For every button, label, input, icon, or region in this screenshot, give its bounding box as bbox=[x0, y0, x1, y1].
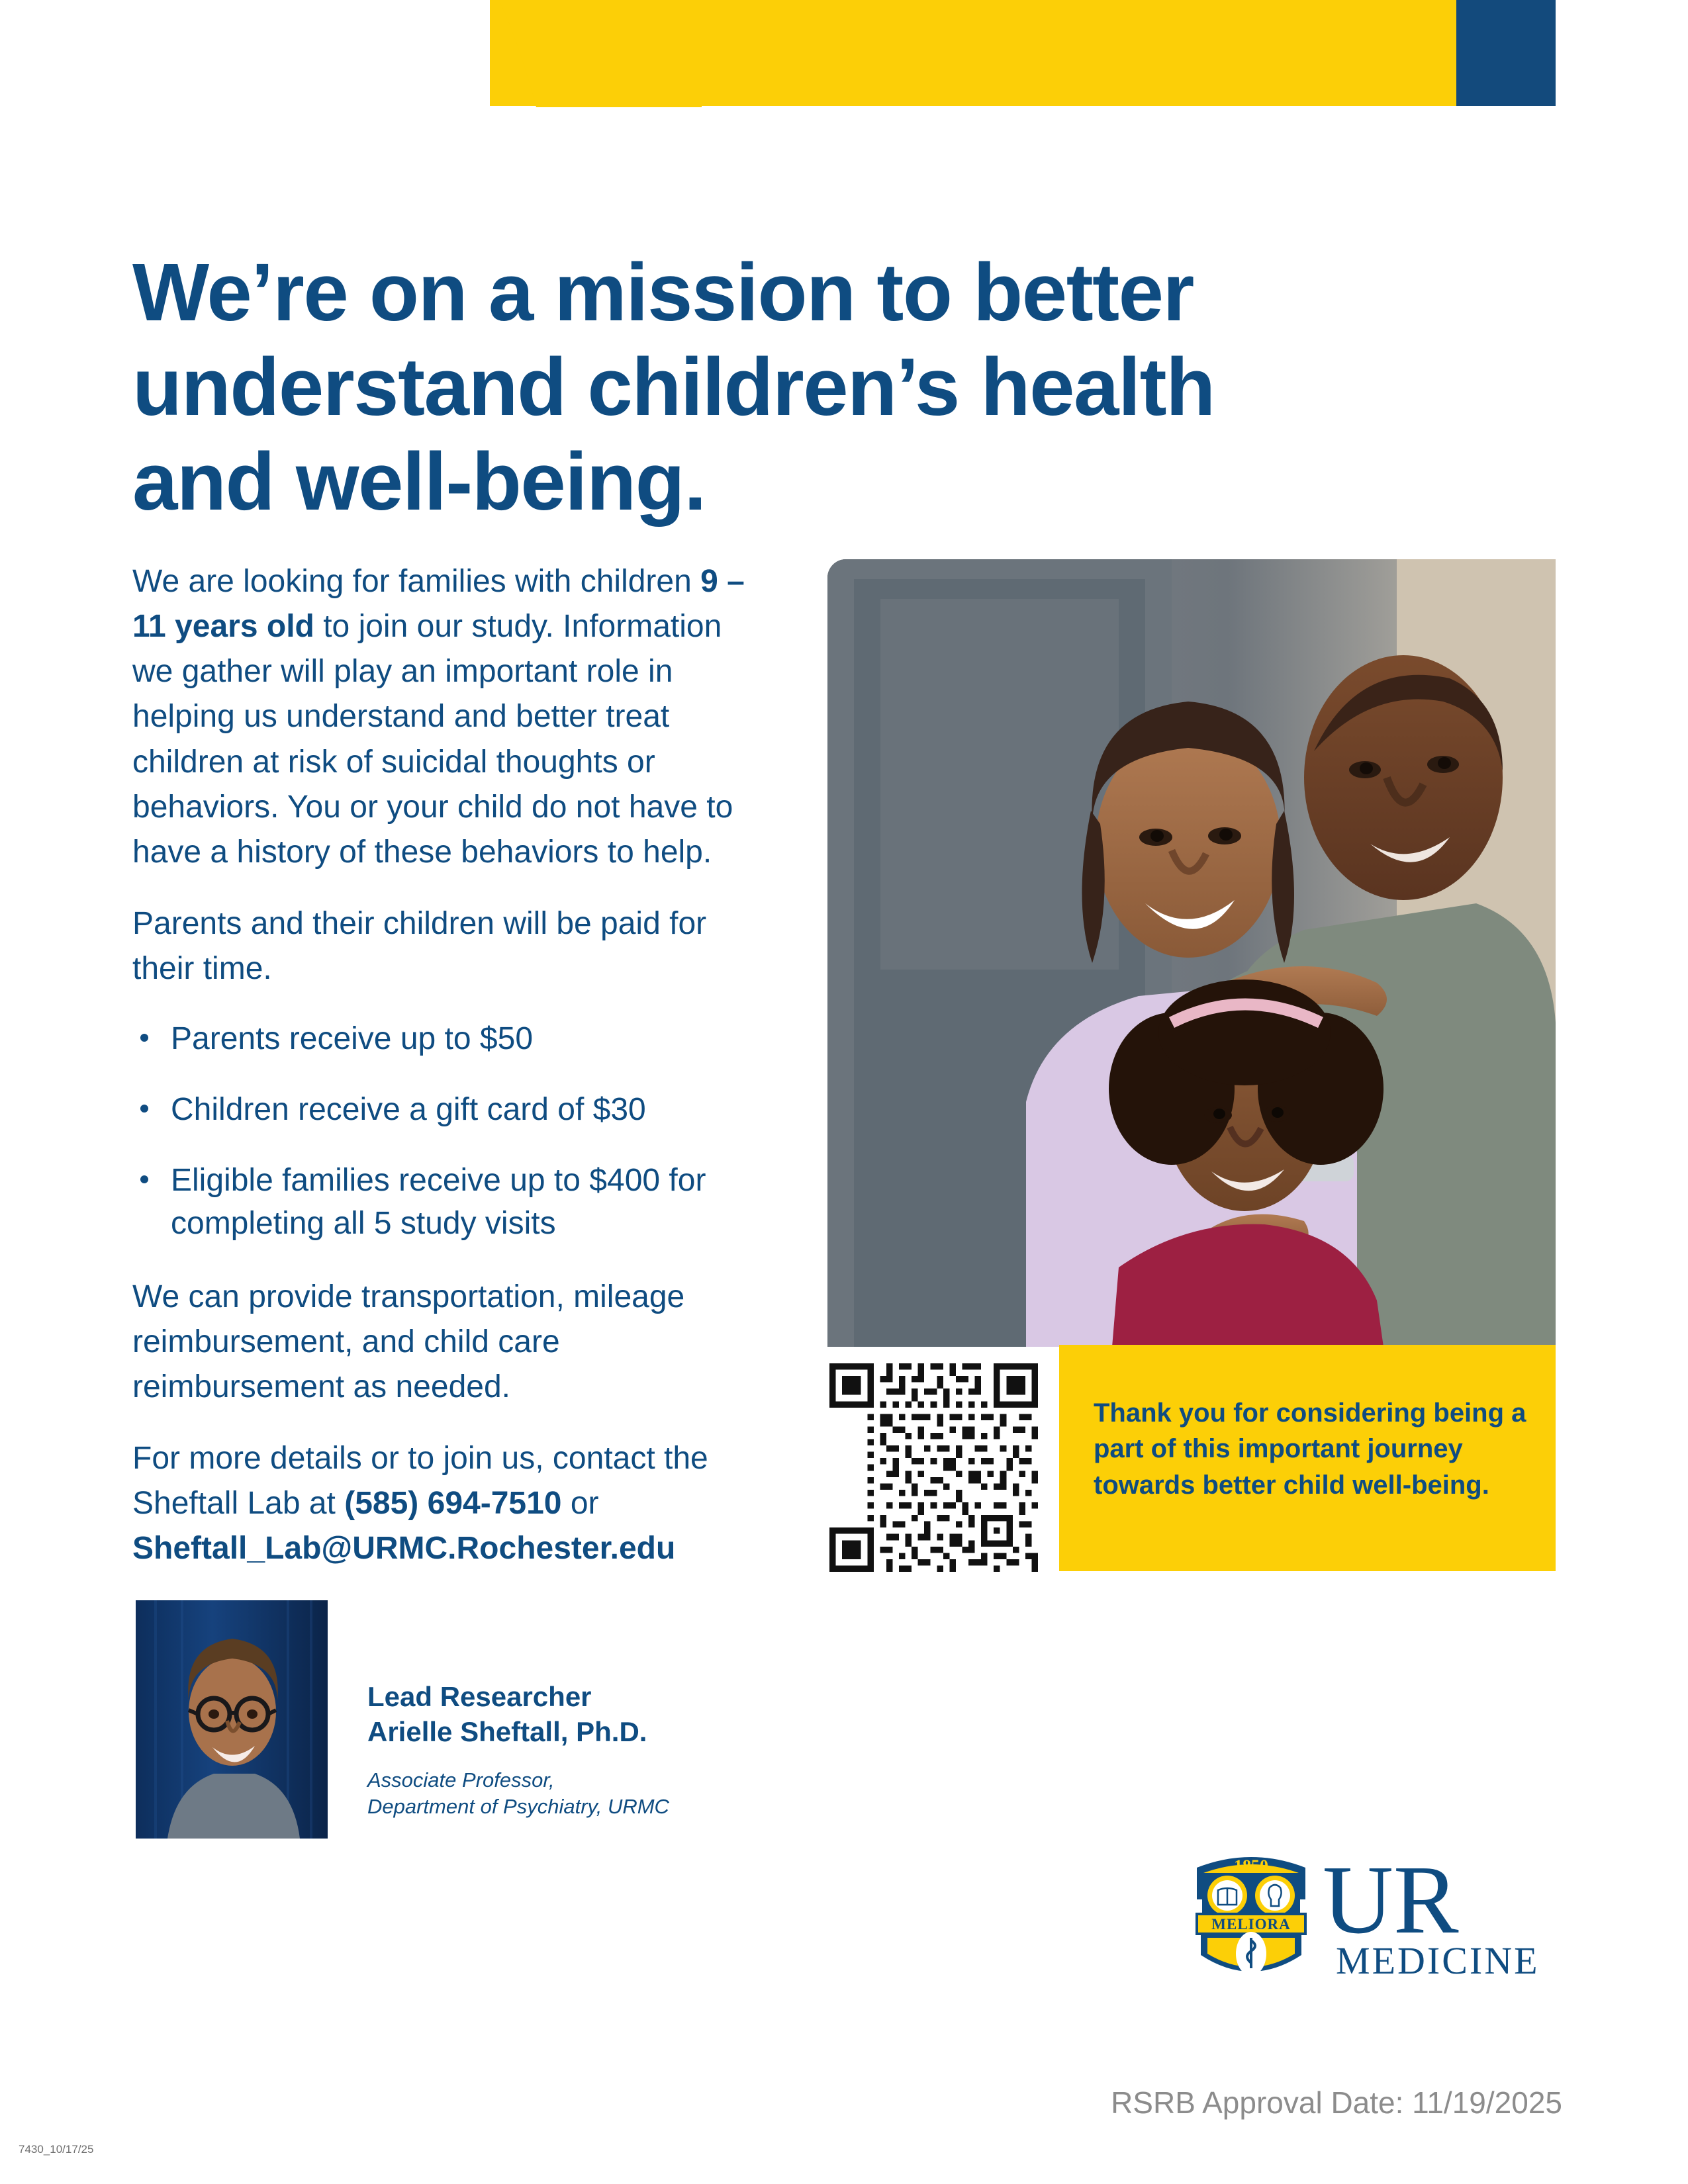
contact-conjunction: or bbox=[561, 1486, 598, 1521]
contact-paragraph: For more details or to join us, contact … bbox=[132, 1436, 755, 1571]
researcher-role-block: Lead Researcher Arielle Sheftall, Ph.D. bbox=[367, 1680, 870, 1750]
bullet-icon bbox=[140, 1034, 148, 1042]
svg-text:1850: 1850 bbox=[1234, 1856, 1268, 1876]
headline-line-2: understand children’s health bbox=[132, 341, 1390, 435]
support-paragraph: We can provide transportation, mileage r… bbox=[132, 1275, 755, 1410]
list-item: Children receive a gift card of $30 bbox=[132, 1089, 755, 1132]
thank-you-text: Thank you for considering being a part o… bbox=[1094, 1395, 1530, 1503]
page-title: We’re on a mission to better understand … bbox=[132, 246, 1390, 529]
payment-item-text: Eligible families receive up to $400 for… bbox=[171, 1163, 706, 1241]
document-code: 7430_10/17/25 bbox=[19, 2143, 93, 2156]
ur-medicine-wordmark: MEDICINE bbox=[1336, 1939, 1536, 1982]
researcher-department-block: Associate Professor, Department of Psych… bbox=[367, 1767, 870, 1821]
header-curve-shape bbox=[463, 0, 702, 107]
qr-code[interactable] bbox=[829, 1363, 1038, 1572]
headline-line-1: We’re on a mission to better bbox=[132, 246, 1390, 341]
headline-line-3: and well-being. bbox=[132, 435, 1390, 530]
bullet-icon bbox=[140, 1105, 148, 1113]
header-band bbox=[0, 0, 1688, 106]
svg-text:MELIORA: MELIORA bbox=[1211, 1916, 1290, 1933]
thank-you-callout: Thank you for considering being a part o… bbox=[1059, 1345, 1556, 1571]
rsrb-approval-date: RSRB Approval Date: 11/19/2025 bbox=[781, 2085, 1562, 2120]
ur-crest-icon: 1850 MELIORA bbox=[1197, 1856, 1305, 1976]
bullet-icon bbox=[140, 1175, 148, 1183]
researcher-name: Arielle Sheftall, Ph.D. bbox=[367, 1715, 870, 1750]
list-item: Eligible families receive up to $400 for… bbox=[132, 1160, 755, 1246]
contact-email-address[interactable]: Sheftall_Lab@URMC.Rochester.edu bbox=[132, 1531, 675, 1566]
payment-intro-paragraph: Parents and their children will be paid … bbox=[132, 901, 755, 991]
payment-item-text: Children receive a gift card of $30 bbox=[171, 1092, 646, 1127]
researcher-info: Lead Researcher Arielle Sheftall, Ph.D. … bbox=[367, 1680, 870, 1820]
contact-phone-number[interactable]: (585) 694-7510 bbox=[344, 1486, 561, 1521]
researcher-headshot bbox=[136, 1600, 328, 1839]
researcher-department: Department of Psychiatry, URMC bbox=[367, 1794, 870, 1820]
body-copy-column: We are looking for families with childre… bbox=[132, 559, 755, 1598]
list-item: Parents receive up to $50 bbox=[132, 1018, 755, 1061]
payment-item-text: Parents receive up to $50 bbox=[171, 1021, 533, 1056]
intro-text-after: to join our study. Information we gather… bbox=[132, 609, 733, 870]
researcher-role-label: Lead Researcher bbox=[367, 1680, 870, 1715]
family-photo bbox=[827, 559, 1556, 1347]
researcher-title: Associate Professor, bbox=[367, 1767, 870, 1794]
ur-medicine-logo: 1850 MELIORA UR MEDICINE bbox=[1185, 1827, 1536, 2005]
header-blue-block bbox=[1456, 0, 1556, 106]
ur-wordmark: UR bbox=[1323, 1846, 1459, 1954]
payment-list: Parents receive up to $50 Children recei… bbox=[132, 1018, 755, 1245]
intro-text-before: We are looking for families with childre… bbox=[132, 564, 700, 599]
intro-paragraph: We are looking for families with childre… bbox=[132, 559, 755, 875]
poster-page: We’re on a mission to better understand … bbox=[0, 0, 1688, 2184]
